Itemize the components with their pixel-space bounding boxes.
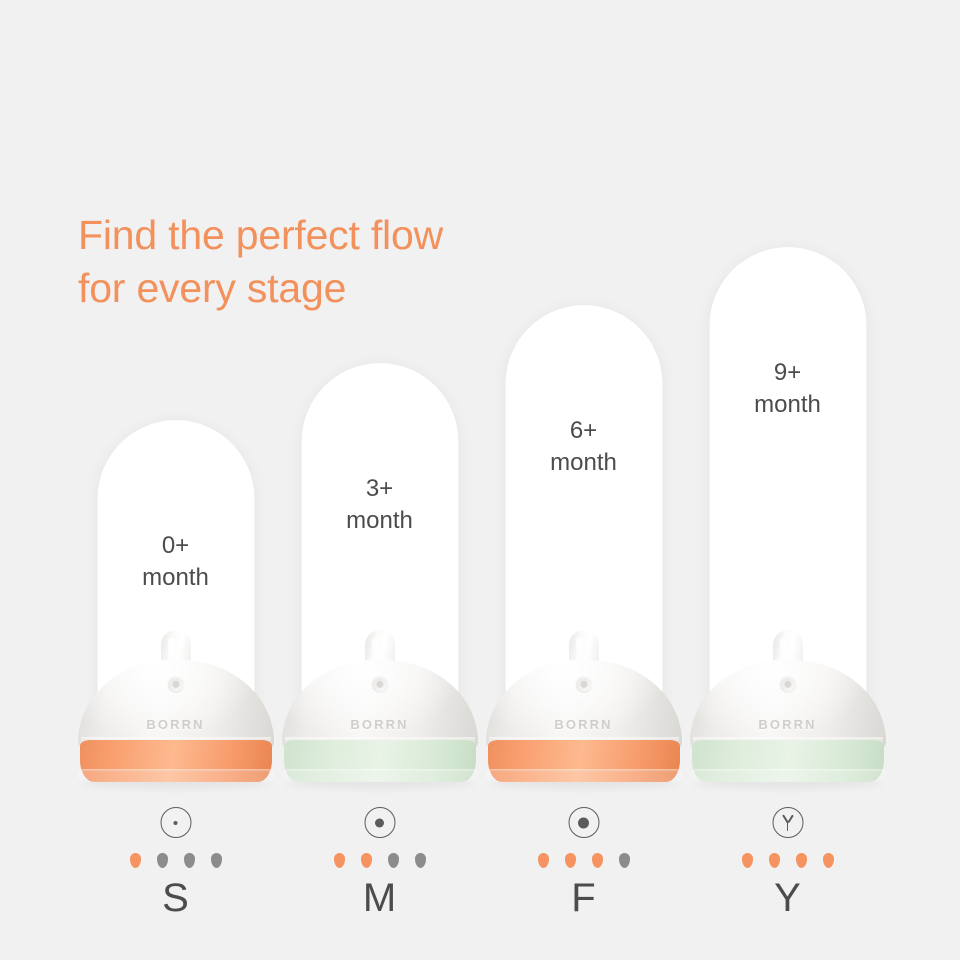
nipple-base-collar	[80, 740, 272, 782]
valve-emboss-icon	[575, 676, 592, 693]
droplet-filled	[334, 853, 345, 868]
valve-emboss-icon	[779, 676, 796, 693]
nipple-illustration: BORRN	[282, 630, 478, 782]
brand-wordmark: BORRN	[78, 717, 274, 732]
size-letter: S	[73, 878, 278, 918]
hole-dot	[375, 818, 384, 827]
droplet-filled	[538, 853, 549, 868]
droplet-filled	[130, 853, 141, 868]
droplet-filled	[823, 853, 834, 868]
size-letter: M	[277, 878, 482, 918]
droplet-empty	[619, 853, 630, 868]
single-large-hole-icon	[568, 807, 599, 838]
page-headline: Find the perfect flow for every stage	[78, 209, 443, 315]
infographic-canvas: Find the perfect flow for every stage 0+…	[0, 0, 960, 960]
flow-rate-droplets	[334, 853, 426, 868]
flow-rate-droplets	[538, 853, 630, 868]
brand-wordmark: BORRN	[282, 717, 478, 732]
droplet-empty	[211, 853, 222, 868]
droplet-filled	[565, 853, 576, 868]
nipple-base-collar	[488, 740, 680, 782]
droplet-filled	[592, 853, 603, 868]
droplet-filled	[361, 853, 372, 868]
droplet-filled	[769, 853, 780, 868]
valve-emboss-icon	[371, 676, 388, 693]
single-medium-hole-icon	[364, 807, 395, 838]
droplet-empty	[388, 853, 399, 868]
flow-rate-droplets	[742, 853, 834, 868]
droplet-empty	[415, 853, 426, 868]
nipple-dome: BORRN	[78, 660, 274, 748]
age-label: 6+ month	[505, 415, 662, 479]
flow-rate-droplets	[130, 853, 222, 868]
droplet-filled	[742, 853, 753, 868]
size-letter: F	[481, 878, 686, 918]
brand-wordmark: BORRN	[486, 717, 682, 732]
nipple-illustration: BORRN	[78, 630, 274, 782]
droplet-filled	[796, 853, 807, 868]
single-small-hole-icon	[160, 807, 191, 838]
age-label: 3+ month	[301, 473, 458, 537]
droplet-empty	[184, 853, 195, 868]
droplet-empty	[157, 853, 168, 868]
age-label: 0+ month	[97, 530, 254, 594]
size-letter: Y	[685, 878, 890, 918]
y-cut-glyph	[780, 815, 795, 831]
y-cut-hole-icon	[772, 807, 803, 838]
hole-dot	[578, 817, 589, 828]
valve-emboss-icon	[167, 676, 184, 693]
nipple-base-collar	[692, 740, 884, 782]
nipple-dome: BORRN	[690, 660, 886, 748]
nipple-dome: BORRN	[486, 660, 682, 748]
nipple-dome: BORRN	[282, 660, 478, 748]
nipple-base-collar	[284, 740, 476, 782]
nipple-illustration: BORRN	[486, 630, 682, 782]
age-label: 9+ month	[709, 357, 866, 421]
hole-dot	[174, 821, 178, 825]
brand-wordmark: BORRN	[690, 717, 886, 732]
nipple-illustration: BORRN	[690, 630, 886, 782]
